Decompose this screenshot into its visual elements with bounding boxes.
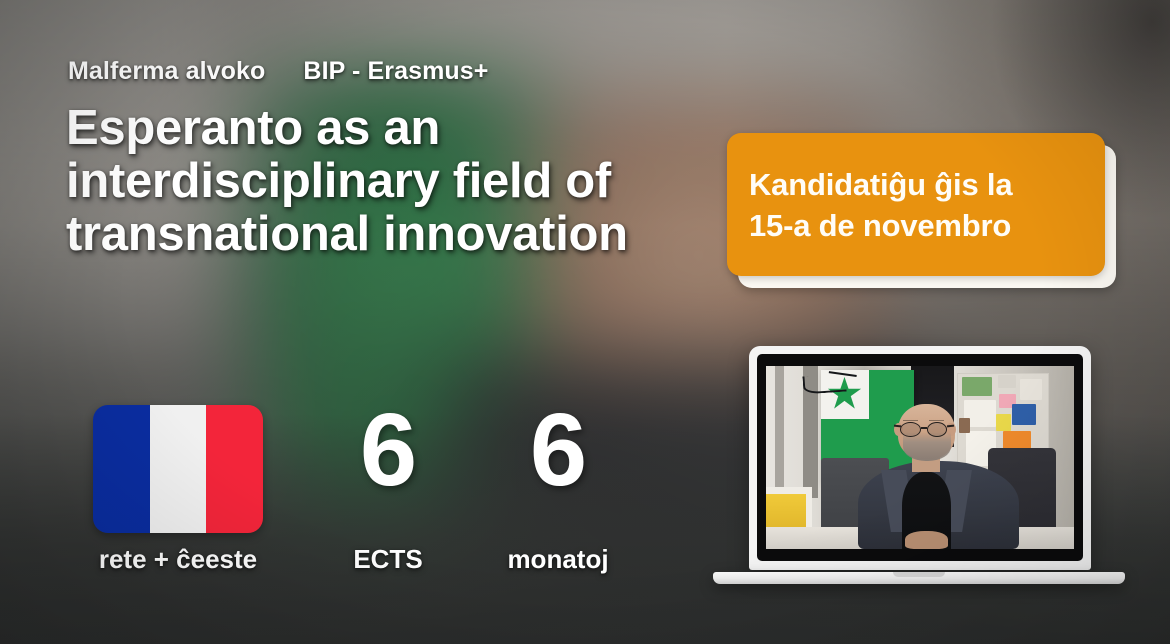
- laptop-screen: [766, 366, 1074, 549]
- kicker-open-call: Malferma alvoko: [68, 57, 265, 86]
- pinboard-note: [1020, 379, 1042, 399]
- photo-person-eyebrow-left: [903, 420, 918, 421]
- glasses-bridge-icon: [921, 427, 927, 429]
- poster-content: Malferma alvoko BIP - Erasmus+ Esperanto…: [0, 0, 1170, 644]
- pinboard-note: [996, 414, 1011, 430]
- pinboard-note: [1012, 404, 1036, 424]
- deadline-badge-line-2: 15-a de novembro: [749, 205, 1083, 246]
- stat-duration: 6: [478, 398, 638, 501]
- stat-credits: 6: [318, 398, 458, 501]
- headline-line-2: interdisciplinary field of: [66, 155, 746, 208]
- flag-stripe-red: [206, 405, 263, 533]
- stat-format: [93, 405, 263, 533]
- flag-stripe-white: [150, 405, 207, 533]
- laptop-base: [713, 572, 1125, 584]
- glasses-lens-left-icon: [900, 422, 920, 437]
- deadline-badge: Kandidatiĝu ĝis la 15-a de novembro: [727, 133, 1105, 276]
- headline-line-3: transnational innovation: [66, 208, 746, 261]
- deadline-badge-group: Kandidatiĝu ĝis la 15-a de novembro: [727, 133, 1105, 276]
- flag-stripe-blue: [93, 405, 150, 533]
- laptop-mockup: [713, 346, 1125, 586]
- kicker-row: Malferma alvoko BIP - Erasmus+: [68, 57, 488, 86]
- pinboard-note: [959, 418, 970, 432]
- france-flag-icon: [93, 405, 263, 533]
- laptop-lid: [749, 346, 1091, 570]
- kicker-programme: BIP - Erasmus+: [303, 57, 488, 86]
- laptop-base-notch: [893, 572, 945, 577]
- photo-window-frame-outer: [775, 366, 784, 501]
- headline-line-1: Esperanto as an: [66, 102, 746, 155]
- stat-credits-label: ECTS: [318, 544, 458, 575]
- stat-credits-value: 6: [318, 398, 458, 501]
- stat-duration-label: monatoj: [478, 544, 638, 575]
- laptop-bezel: [757, 354, 1083, 561]
- stats-row: rete + ĉeeste 6 ECTS 6 monatoj: [0, 392, 700, 592]
- photo-yellow-box: [766, 494, 806, 527]
- photo-person-hands: [905, 531, 948, 549]
- glasses-lens-right-icon: [927, 422, 947, 437]
- pinboard-note: [962, 377, 992, 395]
- photo-person-eyebrow-right: [929, 420, 944, 421]
- stat-format-label: rete + ĉeeste: [78, 544, 278, 575]
- pinboard-note: [998, 375, 1016, 387]
- promo-poster: Malferma alvoko BIP - Erasmus+ Esperanto…: [0, 0, 1170, 644]
- page-title: Esperanto as an interdisciplinary field …: [66, 102, 746, 261]
- deadline-badge-line-1: Kandidatiĝu ĝis la: [749, 164, 1083, 205]
- stat-duration-value: 6: [478, 398, 638, 501]
